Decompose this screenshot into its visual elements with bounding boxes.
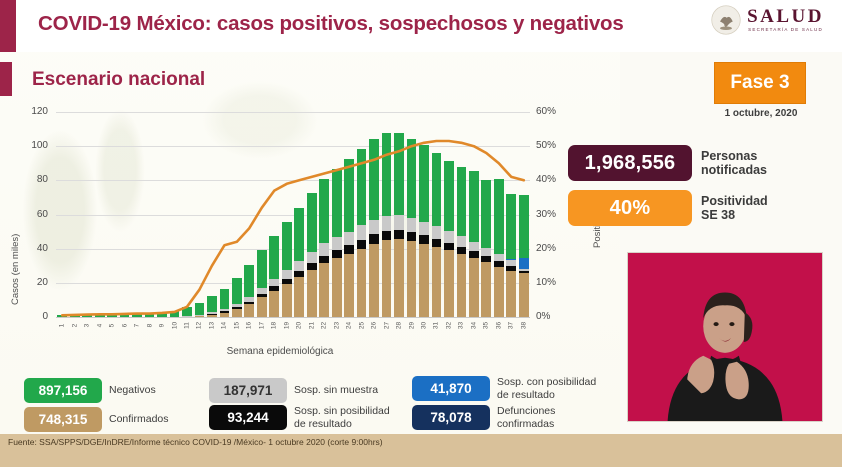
salud-logo: SALUD SECRETARÍA DE SALUD — [711, 5, 824, 35]
bar-segment — [244, 304, 254, 317]
bar-segment — [319, 179, 329, 243]
x-tick-label: 36 — [495, 320, 502, 332]
bar-column — [107, 112, 117, 317]
bar-column — [220, 112, 230, 317]
kpi-value-badge: 40% — [568, 190, 692, 226]
kpi-positividad: 40% Positividad SE 38 — [568, 190, 768, 226]
y-tick-label-secondary: 60% — [536, 106, 572, 117]
bar-segment — [444, 250, 454, 317]
bar-column — [232, 112, 242, 317]
source-note: Fuente: SSA/SPPS/DGE/InDRE/Informe técni… — [8, 437, 383, 447]
bar-column — [382, 112, 392, 317]
y-tick-label-secondary: 40% — [536, 174, 572, 185]
bar-segment — [282, 222, 292, 270]
kpi-label: Personas notificadas — [701, 149, 767, 177]
bar-column — [332, 112, 342, 317]
bar-segment — [419, 145, 429, 222]
bar-segment — [419, 222, 429, 235]
bar-segment — [257, 288, 267, 294]
bar-segment — [344, 254, 354, 317]
bar-segment — [307, 252, 317, 263]
bar-segment — [170, 311, 180, 317]
x-tick-label: 26 — [371, 320, 378, 332]
legend-value: 78,078 — [412, 405, 490, 430]
bar-segment — [269, 286, 279, 290]
x-tick-label: 38 — [520, 320, 527, 332]
y-tick-label: 0 — [14, 311, 48, 322]
bar-segment — [344, 245, 354, 254]
bar-segment — [369, 139, 379, 219]
bar-segment — [294, 271, 304, 277]
bar-column — [432, 112, 442, 317]
bar-segment — [481, 180, 491, 248]
x-tick-label: 28 — [396, 320, 403, 332]
x-axis-line — [56, 317, 530, 318]
x-tick-label: 34 — [470, 320, 477, 332]
mexico-eagle-icon — [711, 5, 741, 35]
phase-badge: Fase 3 — [714, 62, 806, 104]
bar-segment — [519, 271, 529, 274]
legend-text-line1: Defunciones — [497, 405, 555, 417]
bar-column — [419, 112, 429, 317]
bar-segment — [481, 248, 491, 256]
bar-column — [344, 112, 354, 317]
bar-segment — [382, 133, 392, 216]
bar-segment — [257, 294, 267, 297]
bar-segment — [407, 139, 417, 218]
bar-column — [494, 112, 504, 317]
legend-value: 93,244 — [209, 405, 287, 430]
x-tick-label: 22 — [321, 320, 328, 332]
bar-segment — [357, 225, 367, 239]
legend-text: Negativos — [109, 384, 156, 396]
y-tick-label-secondary: 0% — [536, 311, 572, 322]
bar-column — [257, 112, 267, 317]
y-tick-label: 120 — [14, 106, 48, 117]
bar-segment — [319, 263, 329, 317]
kpi-label-line2: notificadas — [701, 163, 767, 177]
legend-text: Sosp. con posibilidad de resultado — [497, 376, 596, 400]
bar-segment — [257, 250, 267, 288]
legend-item-negativos: 897,156 Negativos — [24, 378, 156, 403]
salud-wordmark: SALUD — [747, 7, 824, 26]
bar-segment — [382, 231, 392, 240]
bar-segment — [394, 239, 404, 317]
bar-segment — [481, 262, 491, 317]
bar-segment — [457, 167, 467, 236]
bar-segment — [469, 258, 479, 317]
legend-value: 187,971 — [209, 378, 287, 403]
legend-value: 897,156 — [24, 378, 102, 403]
bar-segment — [494, 179, 504, 254]
bar-segment — [269, 236, 279, 279]
report-date: 1 octubre, 2020 — [706, 108, 816, 119]
x-tick-label: 17 — [258, 320, 265, 332]
bar-segment — [444, 243, 454, 251]
x-tick-label: 35 — [483, 320, 490, 332]
x-tick-label: 13 — [208, 320, 215, 332]
x-tick-label: 11 — [183, 320, 190, 332]
bar-segment — [382, 216, 392, 231]
x-tick-label: 4 — [96, 320, 103, 332]
bar-segment — [419, 235, 429, 244]
bar-segment — [394, 215, 404, 230]
legend-text: Defunciones confirmadas — [497, 405, 555, 429]
bar-column — [282, 112, 292, 317]
bar-segment — [344, 159, 354, 232]
bar-segment — [307, 263, 317, 270]
bar-segment — [220, 289, 230, 310]
bar-column — [82, 112, 92, 317]
bar-segment — [207, 314, 217, 315]
legend-text: Sosp. sin posibilidad de resultado — [294, 405, 390, 429]
x-axis-label: Semana epidemiológica — [0, 346, 560, 357]
bar-segment — [294, 208, 304, 261]
x-tick-label: 19 — [283, 320, 290, 332]
legend-item-confirmados: 748,315 Confirmados — [24, 407, 169, 432]
bar-segment — [332, 250, 342, 258]
kpi-value-badge: 1,968,556 — [568, 145, 692, 181]
x-tick-label: 16 — [246, 320, 253, 332]
x-tick-label: 14 — [221, 320, 228, 332]
x-tick-label: 30 — [420, 320, 427, 332]
legend-value: 748,315 — [24, 407, 102, 432]
bar-segment — [494, 254, 504, 261]
bar-segment — [506, 266, 516, 271]
x-tick-label: 8 — [146, 320, 153, 332]
x-tick-label: 21 — [308, 320, 315, 332]
interpreter-figure — [628, 253, 822, 421]
x-tick-label: 20 — [296, 320, 303, 332]
bar-column — [294, 112, 304, 317]
bar-column — [195, 112, 205, 317]
bar-segment — [207, 296, 217, 312]
x-tick-label: 24 — [346, 320, 353, 332]
x-tick-label: 1 — [59, 320, 66, 332]
bar-column — [394, 112, 404, 317]
x-tick-label: 6 — [121, 320, 128, 332]
bar-segment — [257, 297, 267, 317]
bar-segment — [332, 237, 342, 250]
legend-value: 41,870 — [412, 376, 490, 401]
kpi-label-line1: Personas — [701, 149, 767, 163]
bar-segment — [357, 240, 367, 249]
bar-segment — [182, 307, 192, 316]
kpi-label-line2: SE 38 — [701, 208, 768, 222]
bar-column — [481, 112, 491, 317]
covid-stacked-bar-chart: Casos (en miles) Positividad Semana epid… — [0, 100, 612, 370]
x-tick-label: 7 — [134, 320, 141, 332]
bar-segment — [494, 267, 504, 317]
bar-segment — [394, 133, 404, 215]
bar-segment — [506, 271, 516, 317]
legend-text-line1: Sosp. con posibilidad — [497, 376, 596, 388]
y-tick-label-secondary: 30% — [536, 209, 572, 220]
bar-column — [244, 112, 254, 317]
phase-badge-label: Fase 3 — [730, 72, 789, 94]
section-accent-bar — [0, 62, 12, 96]
bar-segment — [232, 307, 242, 309]
x-tick-label: 31 — [433, 320, 440, 332]
y-tick-label-secondary: 20% — [536, 243, 572, 254]
bar-segment — [432, 239, 442, 247]
bar-segment — [519, 195, 529, 258]
x-tick-label: 10 — [171, 320, 178, 332]
legend-item-defunciones: 78,078 Defunciones confirmadas — [412, 405, 555, 430]
bar-column — [407, 112, 417, 317]
y-tick-label: 20 — [14, 277, 48, 288]
legend-text-line1: Negativos — [109, 384, 156, 396]
bar-column — [319, 112, 329, 317]
legend-text-line1: Sosp. sin posibilidad — [294, 405, 390, 417]
bar-segment — [494, 261, 504, 267]
legend-item-sosp-sin-posibilidad: 93,244 Sosp. sin posibilidad de resultad… — [209, 405, 390, 430]
bar-segment — [282, 279, 292, 284]
x-tick-label: 23 — [333, 320, 340, 332]
bar-column — [506, 112, 516, 317]
legend-text-line2: de resultado — [497, 389, 596, 401]
bar-segment — [432, 247, 442, 317]
bar-segment — [469, 251, 479, 258]
x-tick-label: 25 — [358, 320, 365, 332]
bar-segment — [457, 236, 467, 246]
bar-column — [145, 112, 155, 317]
bar-column — [269, 112, 279, 317]
bar-column — [132, 112, 142, 317]
header-bar: COVID-19 México: casos positivos, sospec… — [0, 0, 842, 52]
bar-column — [120, 112, 130, 317]
bar-segment — [469, 171, 479, 242]
bar-segment — [195, 303, 205, 315]
bar-segment — [506, 260, 516, 266]
bar-segment — [407, 218, 417, 232]
bar-segment — [332, 258, 342, 317]
bar-segment — [232, 278, 242, 304]
bar-column — [170, 112, 180, 317]
bar-segment — [506, 194, 516, 259]
x-tick-label: 15 — [233, 320, 240, 332]
bar-segment — [469, 242, 479, 251]
legend-item-sosp-con-posibilidad: 41,870 Sosp. con posibilidad de resultad… — [412, 376, 596, 401]
bar-segment — [244, 265, 254, 297]
bar-segment — [357, 149, 367, 226]
bar-column — [95, 112, 105, 317]
salud-subtitle: SECRETARÍA DE SALUD — [748, 28, 823, 33]
bar-segment — [369, 244, 379, 317]
bar-column — [444, 112, 454, 317]
legend-text-line1: Confirmados — [109, 413, 169, 425]
bar-segment — [407, 241, 417, 317]
bar-segment — [519, 258, 529, 269]
bar-segment — [319, 256, 329, 264]
y-tick-label-secondary: 50% — [536, 140, 572, 151]
bar-column — [457, 112, 467, 317]
bar-segment — [394, 230, 404, 239]
bar-segment — [307, 193, 317, 252]
section-title: Escenario nacional — [32, 69, 205, 91]
bar-segment — [407, 232, 417, 241]
y-tick-label: 40 — [14, 243, 48, 254]
x-tick-label: 29 — [408, 320, 415, 332]
plot-area — [56, 112, 530, 317]
bar-segment — [369, 234, 379, 243]
legend-item-sosp-sin-muestra: 187,971 Sosp. sin muestra — [209, 378, 378, 403]
bar-segment — [232, 309, 242, 317]
kpi-personas-notificadas: 1,968,556 Personas notificadas — [568, 145, 767, 181]
legend-text: Confirmados — [109, 413, 169, 425]
bar-column — [469, 112, 479, 317]
bar-segment — [207, 312, 217, 313]
bar-segment — [344, 232, 354, 246]
bar-segment — [444, 231, 454, 242]
bar-segment — [244, 297, 254, 302]
x-tick-label: 9 — [159, 320, 166, 332]
bar-segment — [444, 161, 454, 231]
bar-column — [182, 112, 192, 317]
bar-segment — [519, 269, 529, 271]
bar-segment — [294, 277, 304, 317]
bar-segment — [457, 247, 467, 254]
x-tick-label: 37 — [508, 320, 515, 332]
bar-segment — [357, 249, 367, 317]
bar-segment — [195, 315, 205, 316]
bar-column — [157, 112, 167, 317]
bar-column — [70, 112, 80, 317]
x-tick-label: 27 — [383, 320, 390, 332]
legend-text-line1: Sosp. sin muestra — [294, 384, 378, 396]
bar-segment — [244, 302, 254, 305]
y-tick-label-secondary: 10% — [536, 277, 572, 288]
kpi-label-line1: Positividad — [701, 194, 768, 208]
bar-segment — [419, 244, 429, 317]
y-tick-label: 80 — [14, 174, 48, 185]
sign-language-video — [627, 252, 823, 422]
bar-segment — [332, 169, 342, 237]
bar-column — [307, 112, 317, 317]
bar-segment — [282, 270, 292, 279]
bar-segment — [432, 226, 442, 238]
bar-segment — [432, 153, 442, 226]
bar-segment — [269, 291, 279, 317]
kpi-label: Positividad SE 38 — [701, 194, 768, 222]
legend: 897,156 Negativos 187,971 Sosp. sin mues… — [0, 376, 612, 432]
bar-segment — [220, 311, 230, 312]
x-tick-label: 12 — [196, 320, 203, 332]
legend-text-line2: confirmadas — [497, 418, 555, 430]
bar-segment — [519, 273, 529, 317]
bar-column — [357, 112, 367, 317]
x-tick-label: 5 — [109, 320, 116, 332]
bar-segment — [307, 270, 317, 317]
bar-segment — [369, 220, 379, 235]
bar-segment — [457, 254, 467, 317]
bar-segment — [382, 240, 392, 317]
bar-segment — [282, 284, 292, 317]
bar-segment — [319, 243, 329, 255]
x-tick-label: 3 — [84, 320, 91, 332]
bar-column — [519, 112, 529, 317]
bar-segment — [481, 256, 491, 262]
bar-segment — [269, 279, 279, 287]
legend-text: Sosp. sin muestra — [294, 384, 378, 396]
bar-column — [207, 112, 217, 317]
bar-segment — [294, 261, 304, 271]
bar-column — [369, 112, 379, 317]
bar-segment — [232, 304, 242, 307]
x-tick-label: 18 — [271, 320, 278, 332]
x-tick-label: 33 — [458, 320, 465, 332]
x-tick-label: 2 — [71, 320, 78, 332]
bar-column — [57, 112, 67, 317]
bar-segment — [220, 309, 230, 311]
y-tick-label: 60 — [14, 209, 48, 220]
x-tick-label: 32 — [445, 320, 452, 332]
legend-text-line2: de resultado — [294, 418, 390, 430]
page-title: COVID-19 México: casos positivos, sospec… — [38, 12, 624, 36]
header-accent-bar — [0, 0, 16, 52]
y-tick-label: 100 — [14, 140, 48, 151]
